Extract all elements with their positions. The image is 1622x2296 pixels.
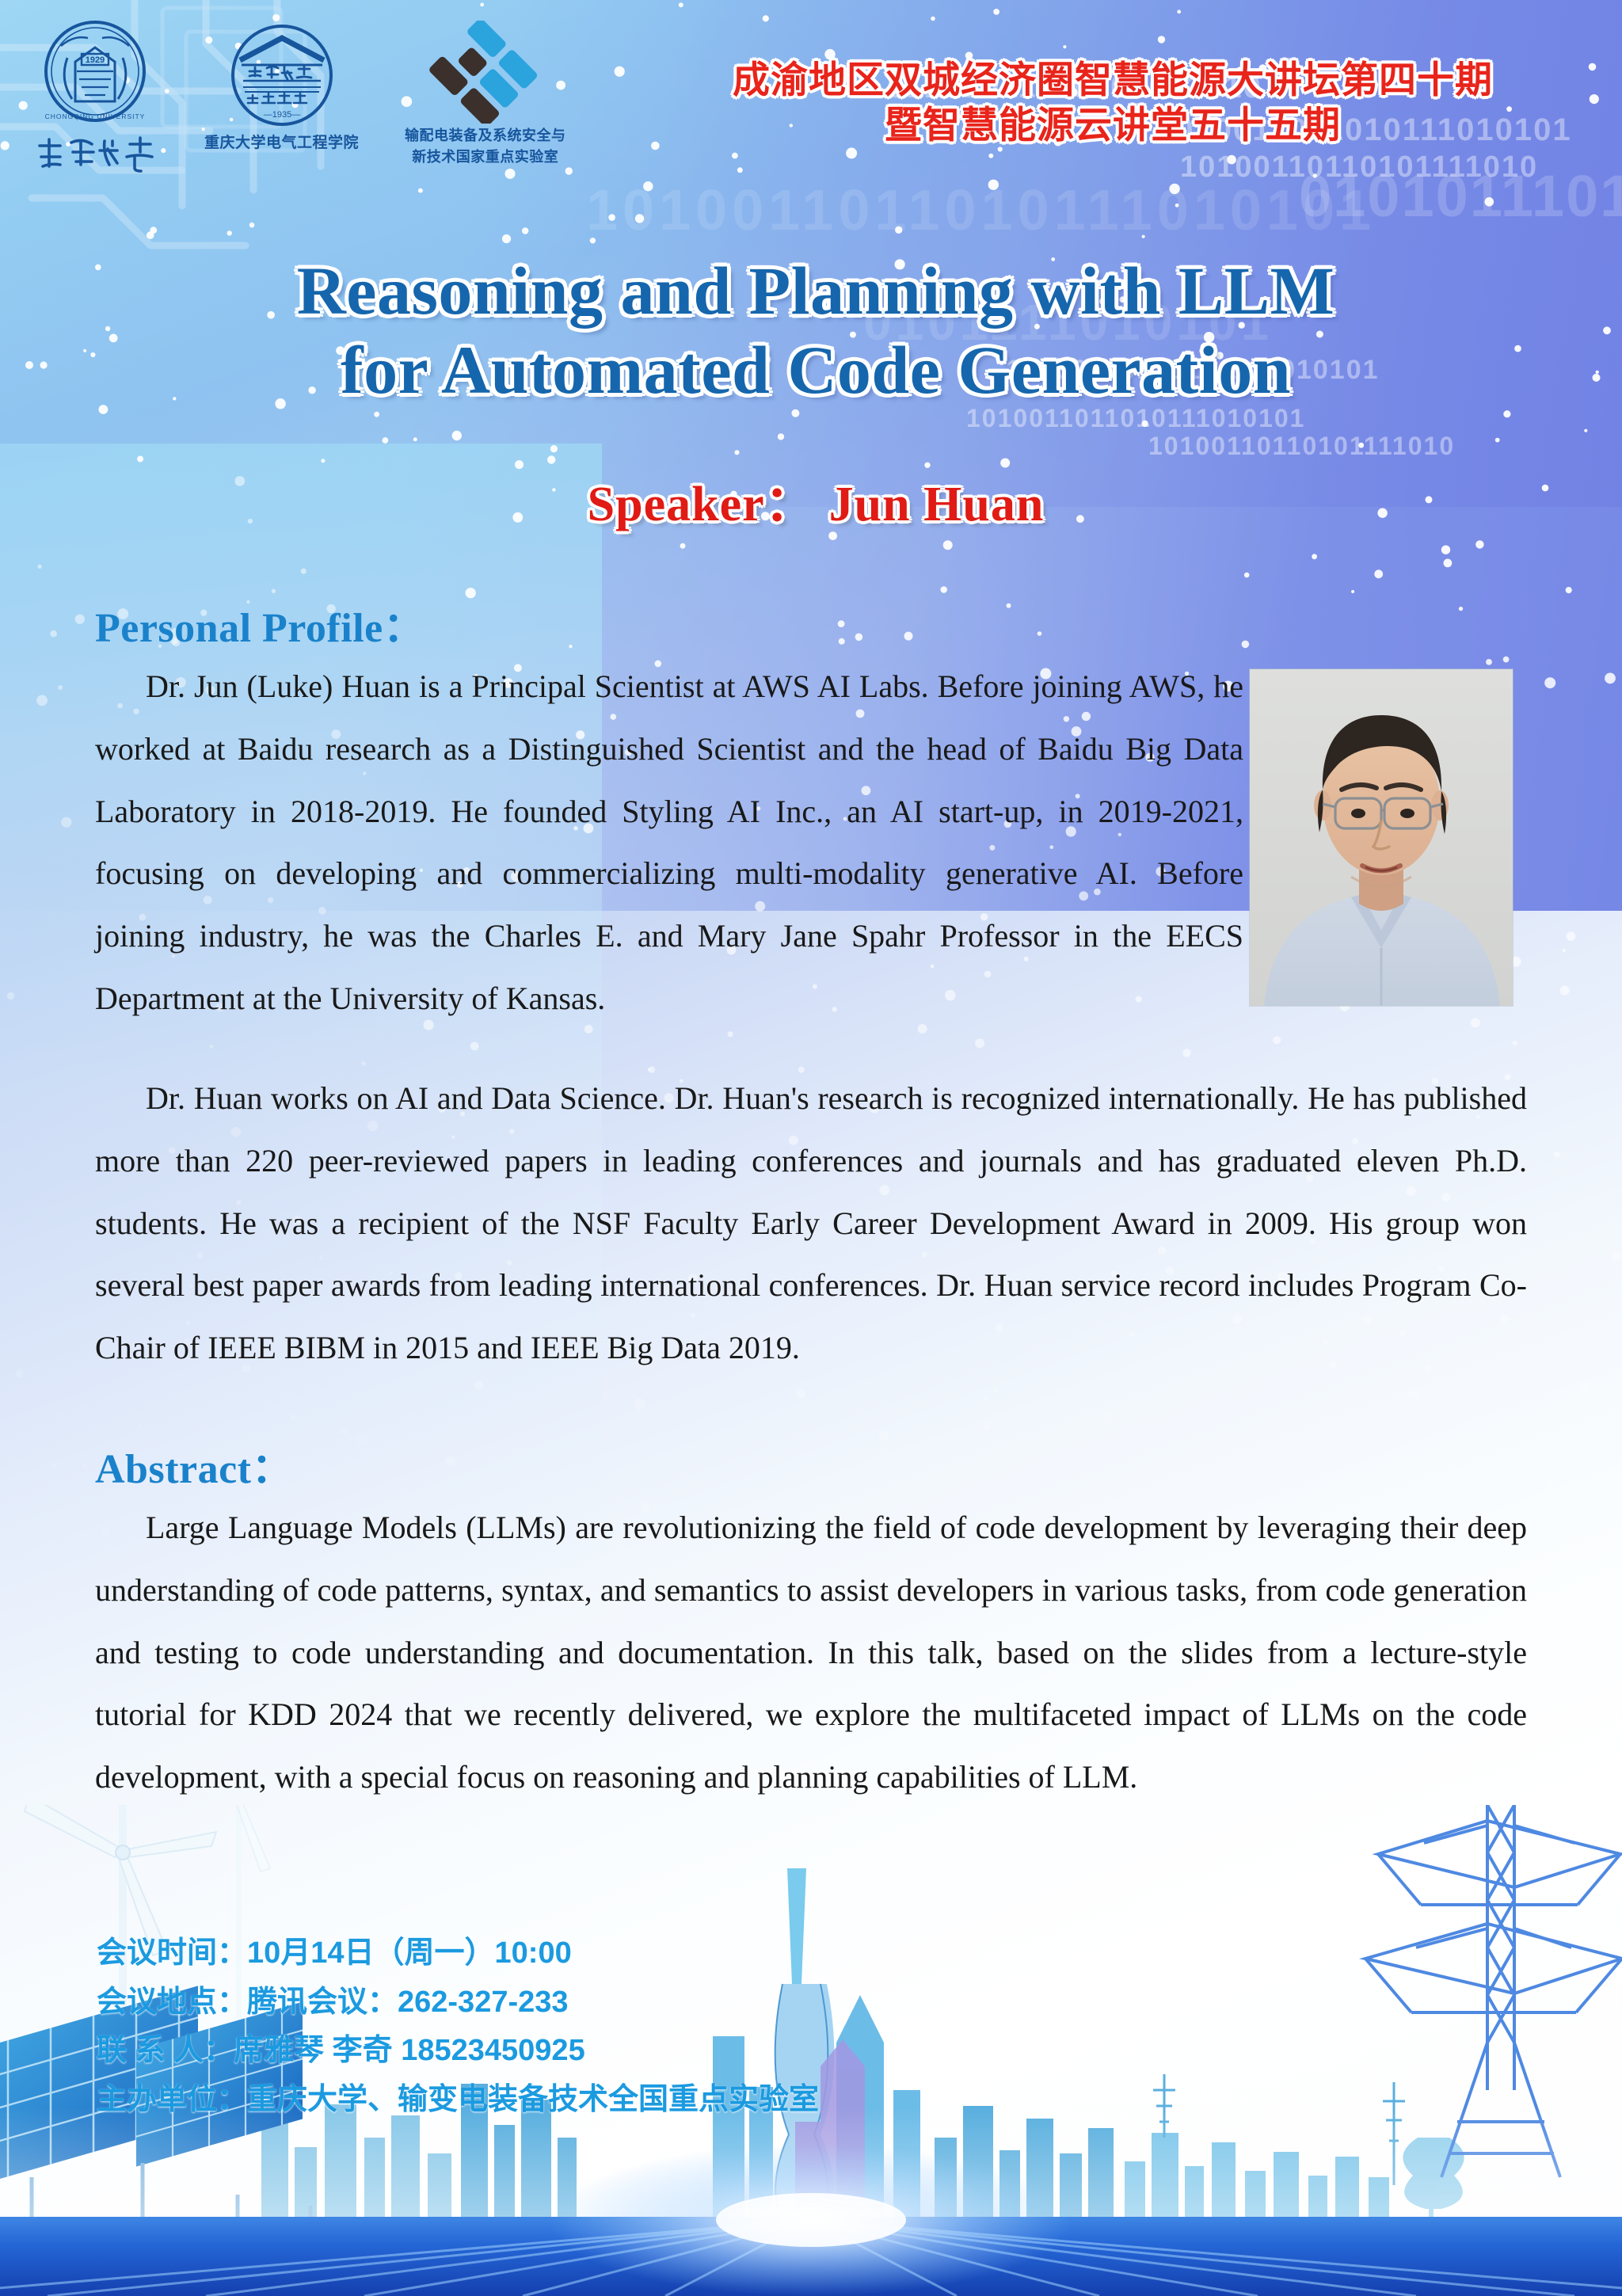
profile-paragraph-1: Dr. Jun (Luke) Huan is a Principal Scien… xyxy=(95,656,1243,1030)
event-place: 会议地点：腾讯会议：262-327-233 xyxy=(97,1978,819,2028)
abstract-paragraph-1: Large Language Models (LLMs) are revolut… xyxy=(95,1497,1527,1809)
speaker-line: Speaker：Jun Huan xyxy=(143,475,1489,534)
page-title: Reasoning and Planning with LLM for Auto… xyxy=(143,252,1489,410)
poster-root: 01101011110101011010 1010011011010111010… xyxy=(0,0,1622,2296)
event-series-title-line1: 成渝地区双城经济圈智慧能源大讲坛第四十期 xyxy=(634,57,1592,102)
profile-paragraph-1-text: Dr. Jun (Luke) Huan is a Principal Scien… xyxy=(95,668,1243,1016)
logo-cqu-electrical-engineering: —1935— 重庆大学电气工程学院 xyxy=(204,19,359,153)
abstract-section-heading: Abstract： xyxy=(95,1435,293,1494)
svg-text:1929: 1929 xyxy=(86,55,105,65)
event-host: 主办单位：重庆大学、输变电装备技术全国重点实验室 xyxy=(97,2076,819,2125)
svg-text:CHONGQING UNIVERSITY: CHONGQING UNIVERSITY xyxy=(45,112,146,120)
speaker-name: Jun Huan xyxy=(829,478,1045,531)
page-title-line1: Reasoning and Planning with LLM xyxy=(143,252,1489,331)
event-time: 会议时间：10月14日（周一）10:00 xyxy=(97,1929,819,1978)
event-contact: 联 系 人：席雅琴 李奇 18523450925 xyxy=(97,2027,819,2076)
speaker-label: Speaker： xyxy=(588,478,815,531)
event-series-title: 成渝地区双城经济圈智慧能源大讲坛第四十期 暨智慧能源云讲堂五十五期 xyxy=(634,57,1592,148)
logo-state-key-lab: 输配电装备及系统安全与 新技术国家重点实验室 xyxy=(405,21,566,166)
event-series-title-line2: 暨智慧能源云讲堂五十五期 xyxy=(634,102,1592,147)
speaker-portrait-image xyxy=(1250,669,1513,1006)
logo-cqu-ee-caption: 重庆大学电气工程学院 xyxy=(204,135,359,153)
profile-paragraph-2: Dr. Huan works on AI and Data Science. D… xyxy=(95,1068,1527,1380)
logo-row: 1929 CHONGQING UNIVERSITY xyxy=(32,14,566,177)
chongqing-university-wordmark-icon xyxy=(32,135,158,173)
speaker-portrait xyxy=(1250,669,1513,1006)
state-key-lab-icon xyxy=(429,21,542,124)
logo-state-key-lab-caption-line2: 新技术国家重点实验室 xyxy=(412,148,558,166)
cqu-ee-seal-icon: —1935— xyxy=(226,19,338,131)
abstract-paragraph-1-text: Large Language Models (LLMs) are revolut… xyxy=(95,1510,1527,1795)
logo-chongqing-university: 1929 CHONGQING UNIVERSITY xyxy=(32,14,158,177)
event-details: 会议时间：10月14日（周一）10:00 会议地点：腾讯会议：262-327-2… xyxy=(97,1929,819,2124)
logo-state-key-lab-caption-line1: 输配电装备及系统安全与 xyxy=(405,127,566,145)
page-title-line2: for Automated Code Generation xyxy=(143,331,1489,410)
chongqing-university-seal-icon: 1929 CHONGQING UNIVERSITY xyxy=(36,14,154,133)
svg-text:—1935—: —1935— xyxy=(263,110,299,120)
profile-section-heading: Personal Profile： xyxy=(95,594,425,653)
profile-paragraph-2-text: Dr. Huan works on AI and Data Science. D… xyxy=(95,1080,1527,1365)
